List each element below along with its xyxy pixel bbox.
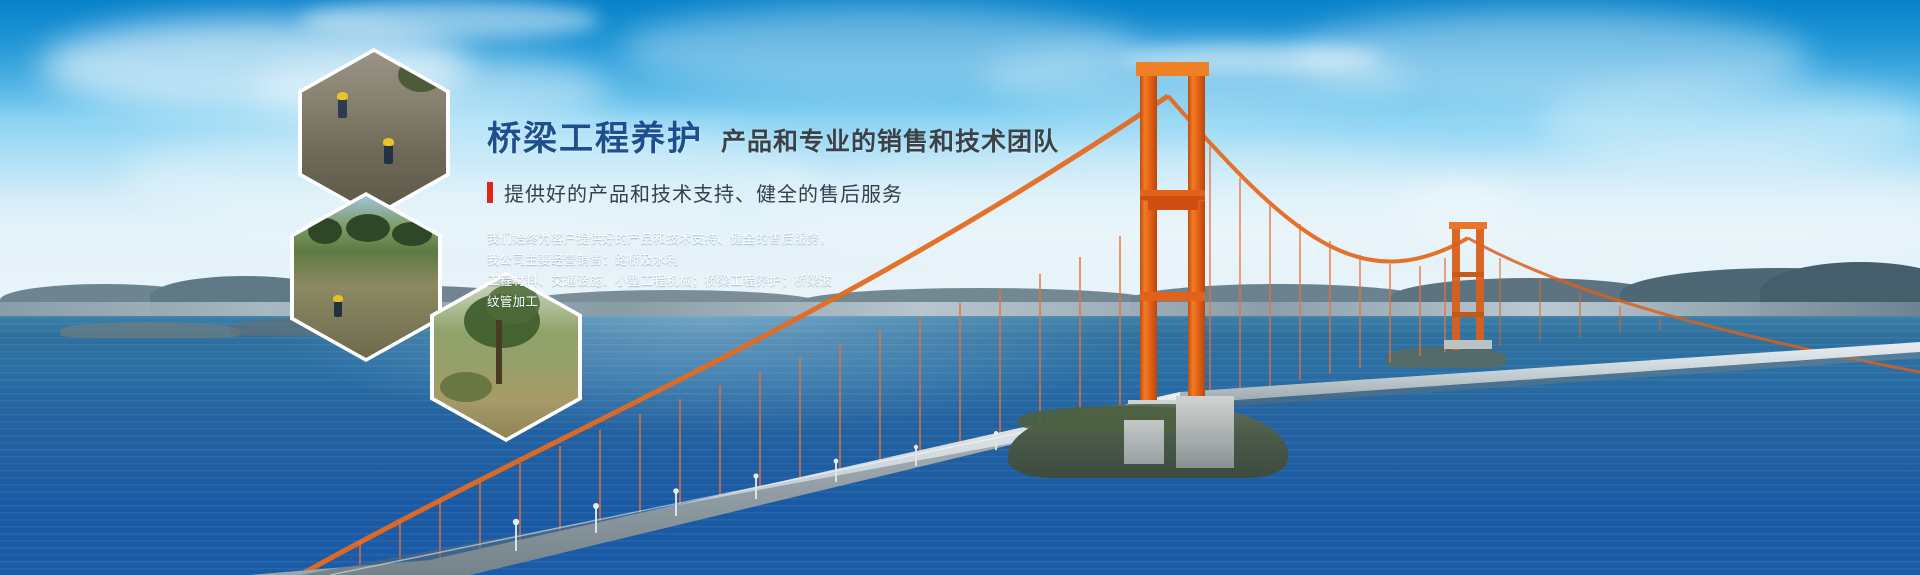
headline-primary: 桥梁工程养护 (487, 120, 703, 158)
hex-photo-hillside-slope-protection[interactable] (290, 192, 442, 362)
tree (308, 218, 342, 244)
worker-figure (334, 300, 342, 317)
banner-copy: 桥梁工程养护产品和专业的销售和技术团队 提供好的产品和技术支持、健全的售后服务 … (487, 122, 1187, 313)
worker-helmet (333, 295, 343, 302)
hero-banner: 桥梁工程养护产品和专业的销售和技术团队 提供好的产品和技术支持、健全的售后服务 … (0, 0, 1920, 575)
hex-photo-hillside-slope-protection-image (294, 196, 438, 358)
bridge-pier (1176, 396, 1234, 468)
tree (392, 222, 432, 246)
bridge-tower-far (1444, 222, 1492, 350)
shrub (398, 58, 444, 92)
headline: 桥梁工程养护产品和专业的销售和技术团队 (487, 122, 1187, 156)
worker-figure (338, 98, 347, 118)
body-line: 工程材料、交通设施、小型工程机械；桥梁工程养护；桥梁波纹管加工 (487, 271, 837, 313)
bush (440, 372, 492, 402)
subheadline-text: 提供好的产品和技术支持、健全的售后服务 (504, 178, 903, 207)
worker-helmet (337, 92, 348, 100)
red-accent-bar (487, 182, 493, 203)
body-line: 我们始终为客户提供好的产品和技术支持、健全的售后服务，我公司主要经营销售：路桥及… (487, 229, 837, 271)
banner-body-text: 我们始终为客户提供好的产品和技术支持、健全的售后服务，我公司主要经营销售：路桥及… (487, 229, 837, 313)
hex-photo-rock-face-netting-image (302, 52, 446, 214)
tree (346, 214, 390, 242)
tree-trunk (496, 320, 502, 384)
bridge-pier (1124, 420, 1164, 464)
worker-helmet (383, 138, 394, 146)
hex-photo-rock-face-netting[interactable] (298, 48, 450, 218)
worker-figure (384, 144, 393, 164)
subheadline-row: 提供好的产品和技术支持、健全的售后服务 (487, 178, 1187, 207)
headline-secondary: 产品和专业的销售和技术团队 (721, 128, 1059, 156)
